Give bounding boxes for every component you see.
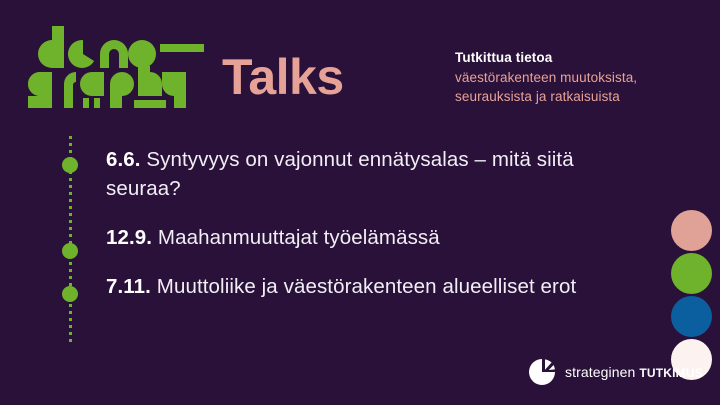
swatch-blue	[671, 296, 712, 337]
tagline-line-2: seurauksista ja ratkaisuista	[455, 87, 695, 107]
swatch-pink	[671, 210, 712, 251]
strateginen-tutkimus-logo: strateginen TUTKIMUS	[527, 356, 703, 388]
talk-date: 12.9.	[106, 226, 152, 249]
tagline-block: Tutkittua tietoa väestörakenteen muutoks…	[455, 48, 695, 107]
footer-wordmark: strateginen TUTKIMUS	[565, 364, 703, 380]
talk-list-item[interactable]: 7.11. Muuttoliike ja väestörakenteen alu…	[106, 272, 636, 301]
swatch-green	[671, 253, 712, 294]
talk-title: Muuttoliike ja väestörakenteen alueellis…	[157, 275, 577, 298]
talk-list: 6.6. Syntyvyys on vajonnut ennätysalas –…	[106, 145, 636, 321]
talk-title: Maahanmuuttajat työelämässä	[158, 226, 440, 249]
tagline-title: Tutkittua tietoa	[455, 48, 695, 68]
talk-list-item[interactable]: 12.9. Maahanmuuttajat työelämässä	[106, 223, 636, 252]
tagline-line-1: väestörakenteen muutoksista,	[455, 68, 695, 88]
talk-date: 7.11.	[106, 275, 151, 298]
talk-date: 6.6.	[106, 148, 141, 171]
timeline-dot-3	[62, 286, 78, 302]
timeline-dot-1	[62, 157, 78, 173]
talk-title: Syntyvyys on vajonnut ennätysalas – mitä…	[106, 148, 574, 200]
timeline-dot-2	[62, 243, 78, 259]
talk-list-item[interactable]: 6.6. Syntyvyys on vajonnut ennätysalas –…	[106, 145, 636, 203]
talks-label: Talks	[222, 52, 344, 102]
pie-chart-mark-icon	[527, 356, 559, 388]
demography-logo	[26, 26, 216, 108]
presentation-slide: Talks Tutkittua tietoa väestörakenteen m…	[0, 0, 720, 405]
footer-word-regular: strateginen	[565, 364, 639, 380]
footer-word-bold: TUTKIMUS	[639, 366, 703, 380]
